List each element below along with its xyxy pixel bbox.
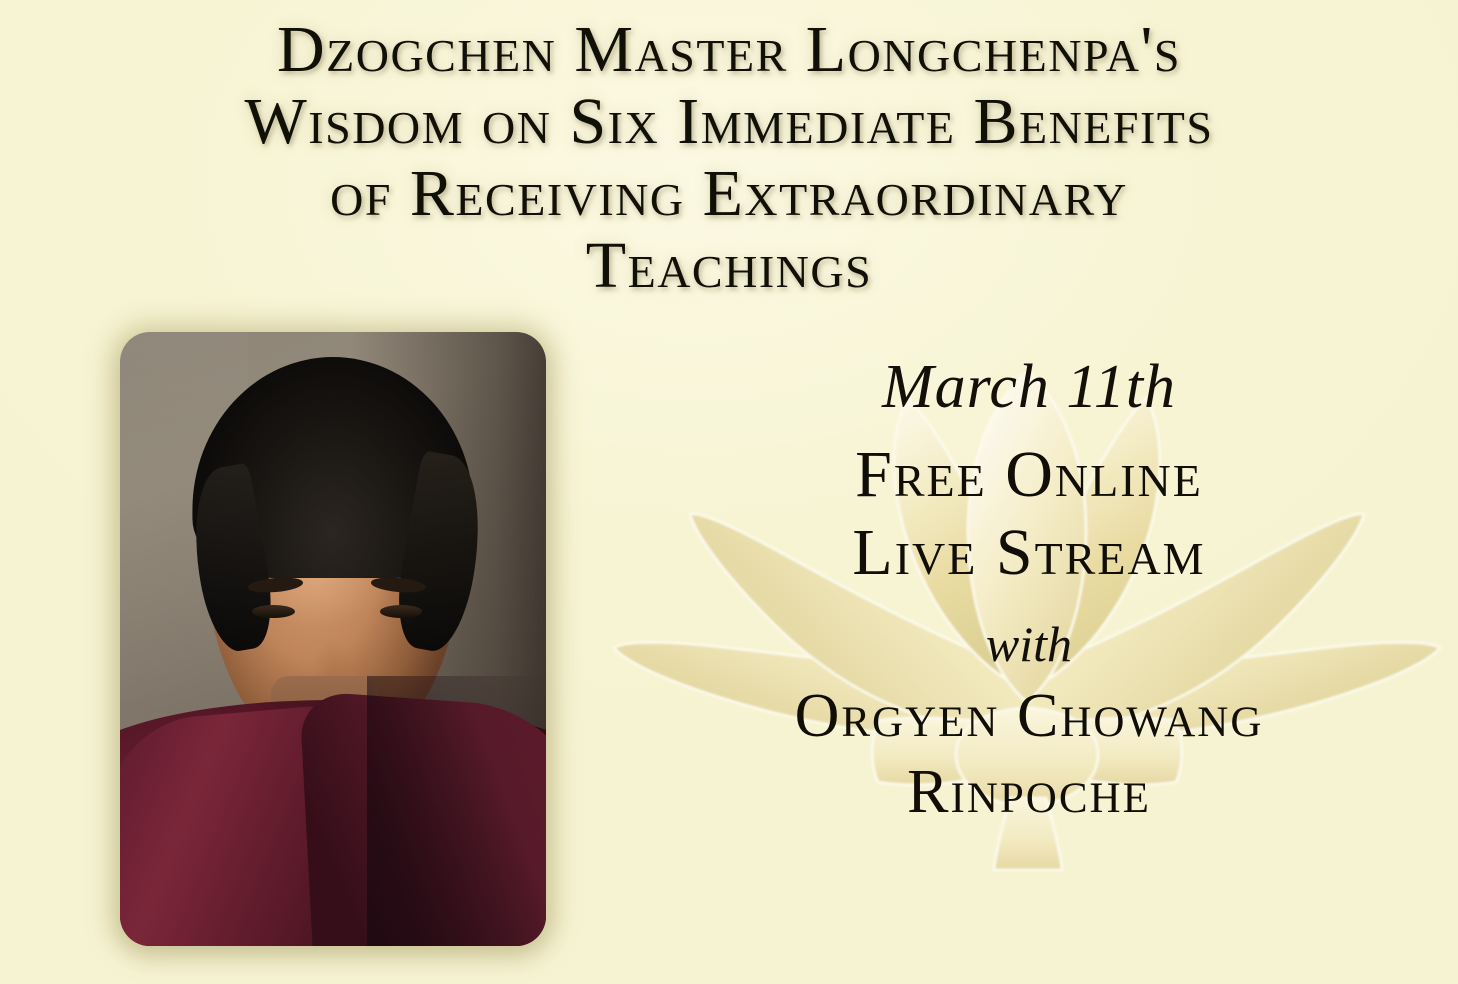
title-line-2: Wisdom on Six Immediate Benefits: [0, 86, 1458, 158]
with-label: with: [600, 616, 1458, 672]
event-date: March 11th: [600, 352, 1458, 422]
presenter-name-line-1: Orgyen Chowang: [600, 678, 1458, 754]
title-line-3: of Receiving Extraordinary: [0, 158, 1458, 230]
title-line-1: Dzogchen Master Longchenpa's: [0, 14, 1458, 86]
event-headline-line-1: Free Online: [600, 436, 1458, 514]
robe-shadow: [367, 676, 546, 946]
eye-left: [252, 605, 295, 618]
title-line-4: Teachings: [0, 230, 1458, 302]
portrait-image: [120, 332, 546, 946]
presenter-name-line-2: Rinpoche: [600, 754, 1458, 830]
poster-canvas: Dzogchen Master Longchenpa's Wisdom on S…: [0, 0, 1458, 984]
event-details: March 11th Free Online Live Stream with …: [600, 352, 1458, 830]
speaker-portrait-photo: [120, 332, 546, 946]
event-headline-line-2: Live Stream: [600, 514, 1458, 592]
page-title: Dzogchen Master Longchenpa's Wisdom on S…: [0, 14, 1458, 302]
